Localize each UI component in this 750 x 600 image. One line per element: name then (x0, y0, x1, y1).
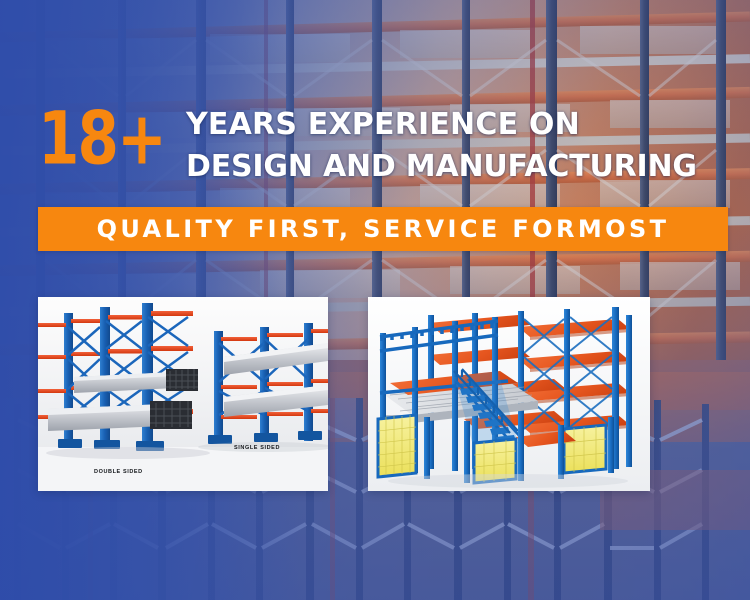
caption-double-sided: DOUBLE SIDED (94, 469, 143, 475)
headline-line-1: YEARS EXPERIENCE ON (186, 104, 750, 146)
years-badge: 18+ (38, 102, 165, 175)
headline-block: 18+ YEARS EXPERIENCE ON DESIGN AND MANUF… (38, 104, 738, 200)
headline-line-2: DESIGN AND MANUFACTURING (186, 146, 750, 188)
tagline-bar: QUALITY FIRST, SERVICE FORMOST (38, 207, 728, 251)
promo-banner: 18+ YEARS EXPERIENCE ON DESIGN AND MANUF… (0, 0, 750, 600)
caption-single-sided: SINGLE SIDED (234, 445, 280, 451)
tagline-text: QUALITY FIRST, SERVICE FORMOST (97, 217, 670, 241)
product-photo-mezzanine-racking (368, 297, 650, 491)
headline-lines: YEARS EXPERIENCE ON DESIGN AND MANUFACTU… (186, 104, 750, 188)
product-photo-cantilever-racking: DOUBLE SIDED SINGLE SIDED (38, 297, 328, 491)
